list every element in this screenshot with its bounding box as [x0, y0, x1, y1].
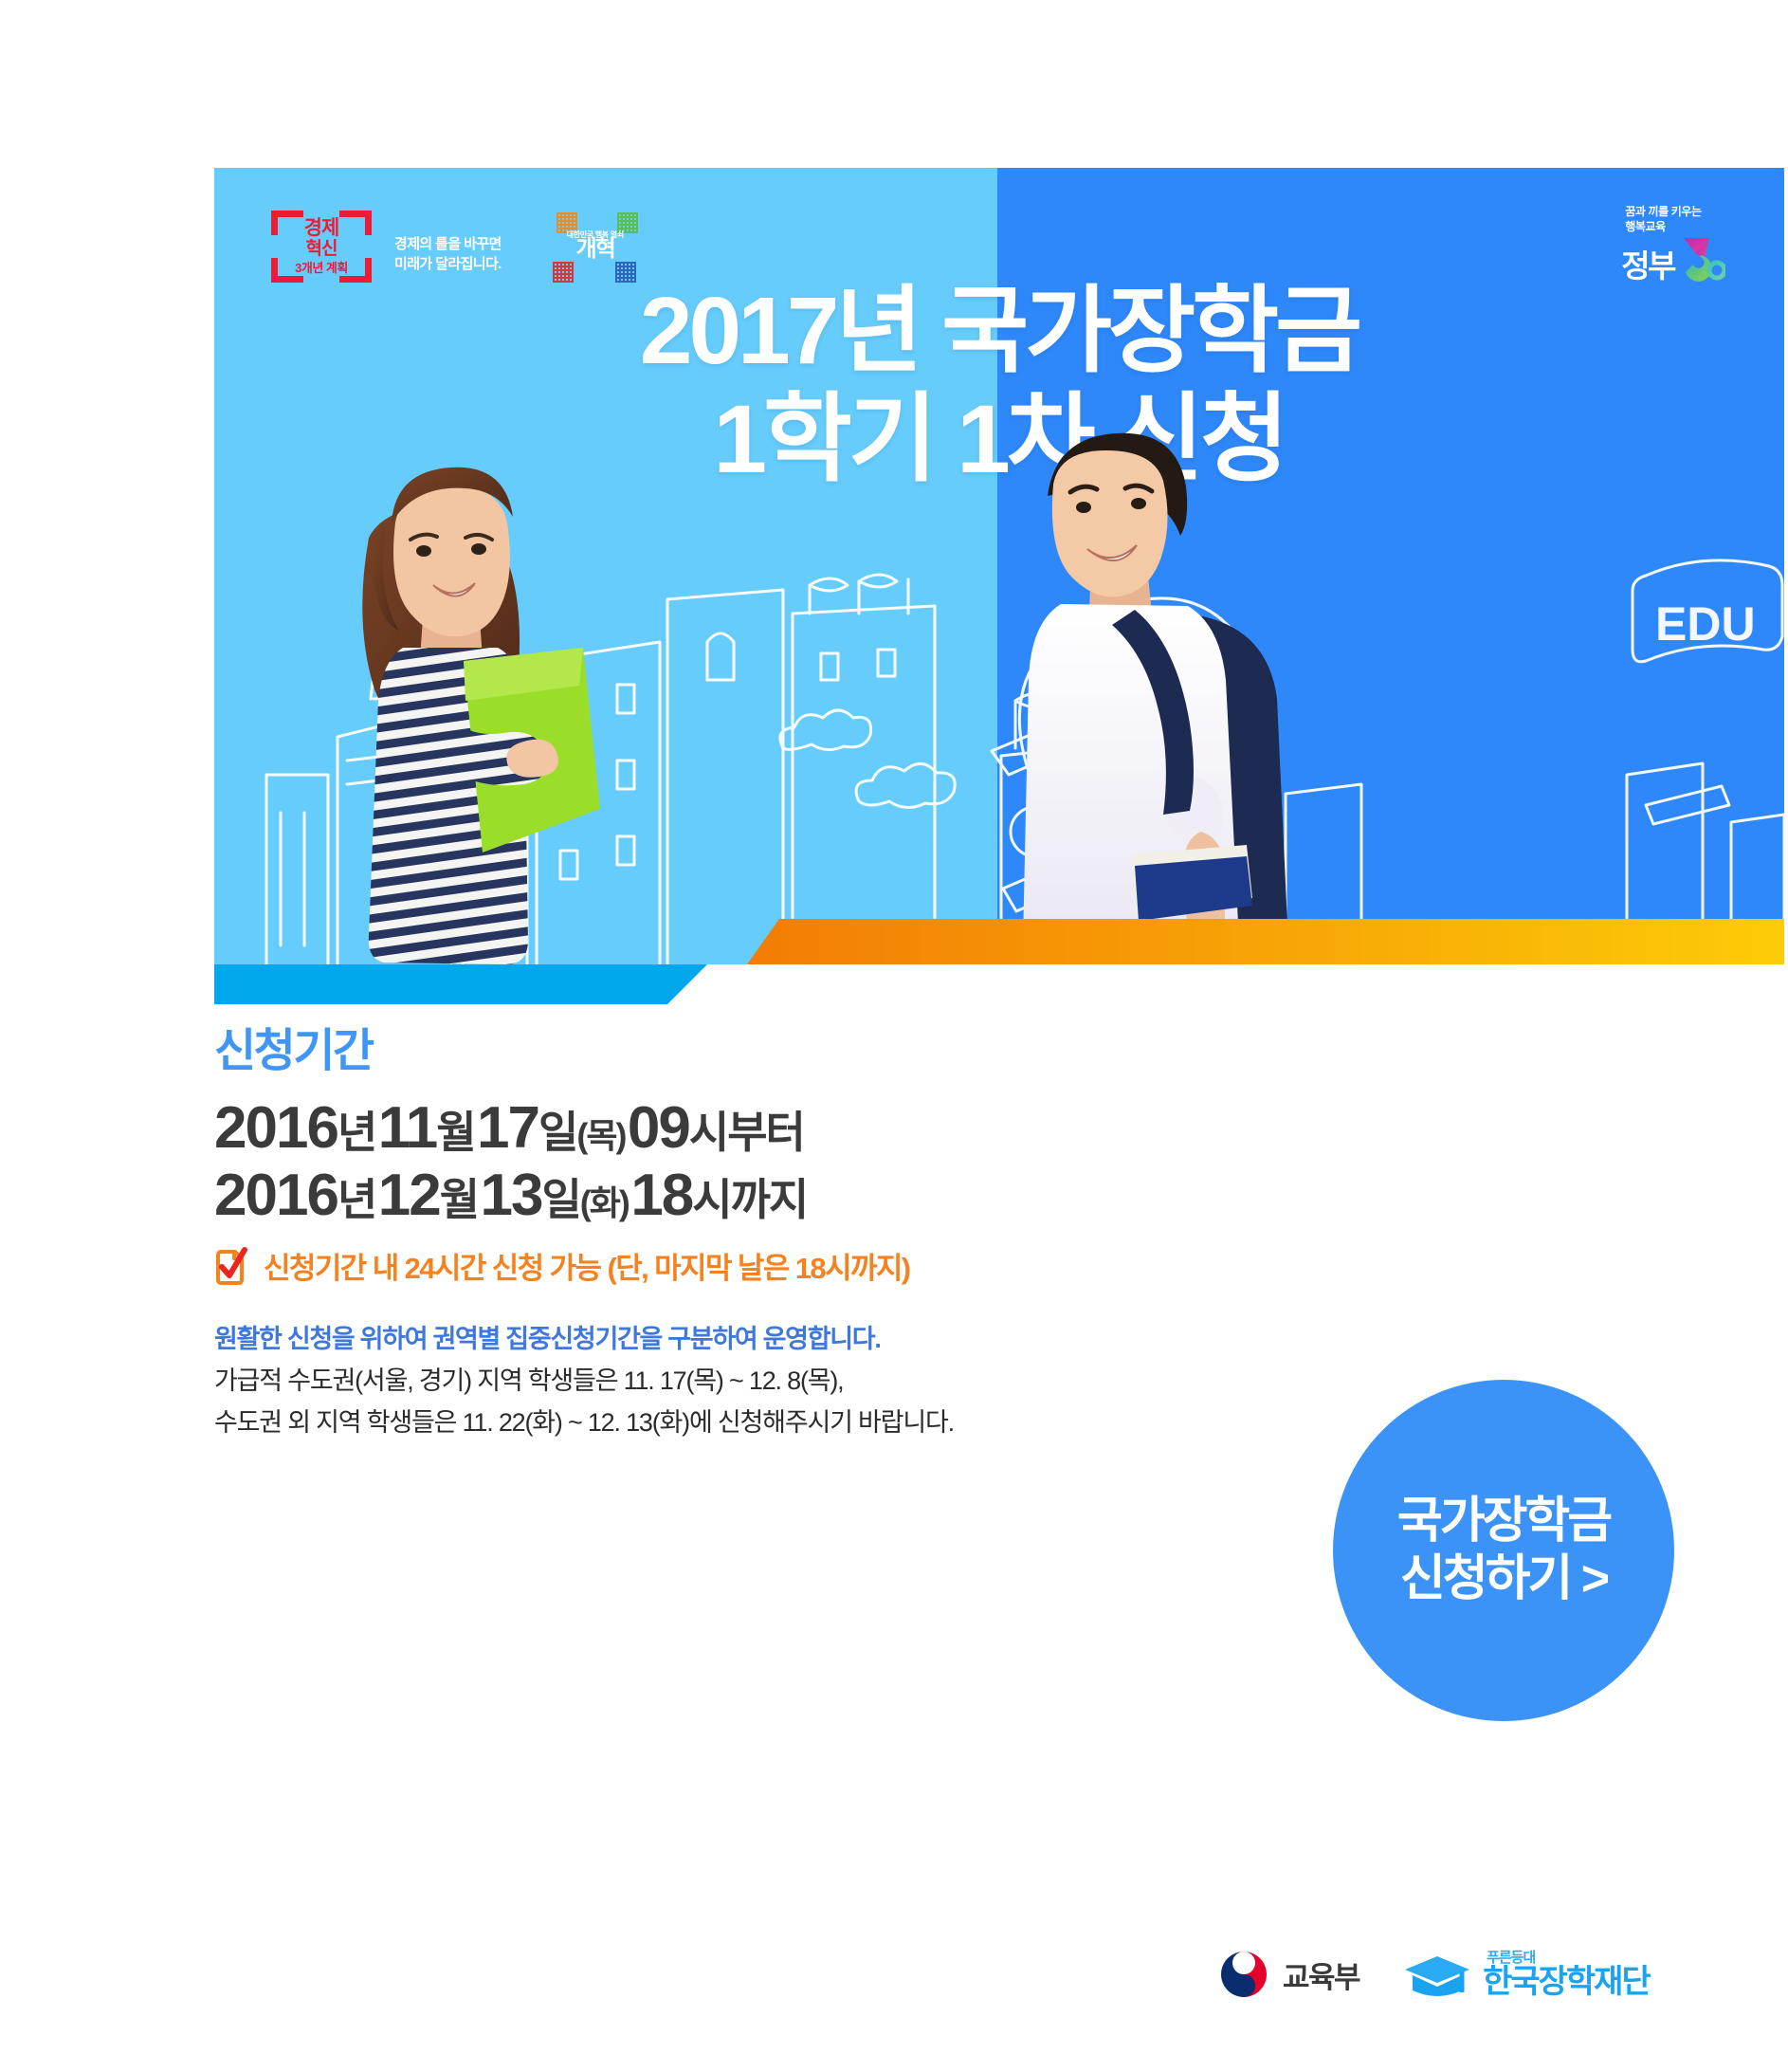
- economic-innovation-logo: 경제 혁신 3개년 계획: [271, 211, 372, 283]
- cta-label-line2: 신청하기 >: [1400, 1550, 1607, 1608]
- hero-banner: EDU 경제 혁신 3개년 계획 경제의 틀을 바꾸면 미래가 달라집니다.: [214, 168, 1784, 964]
- start-year-number: 2016: [214, 1095, 338, 1161]
- application-period-section: 신청기간 2016년 11월 17일(목) 09시부터 2016년 12월 13…: [214, 1029, 1276, 1444]
- kosaf-logo: 푸른등대 한국장학재단: [1403, 1951, 1650, 1998]
- economy-tagline-line1: 경제의 틀을 바꾸면: [394, 234, 502, 255]
- ministry-of-education-logo: 교육부: [1218, 1949, 1359, 2000]
- education-reform-logo: 대한민국 행복 열쇠 개혁: [553, 212, 638, 283]
- end-day-number: 13: [480, 1163, 541, 1228]
- edu-doodle-text: EDU: [1655, 597, 1756, 651]
- graduation-cap-icon: [1403, 1951, 1473, 1998]
- section-title: 신청기간: [214, 1029, 1276, 1074]
- economy-logo-line3: 3개년 계획: [271, 262, 372, 274]
- start-weekday: (목): [576, 1116, 625, 1155]
- end-month-unit: 월: [440, 1175, 478, 1224]
- government-30-logo: 꿈과 끼를 키우는 행복교육 정부: [1621, 204, 1725, 284]
- economy-tagline: 경제의 틀을 바꾸면 미래가 달라집니다.: [394, 234, 502, 284]
- gov30-caption-line2: 행복교육: [1625, 219, 1725, 234]
- kosaf-sub-label: 푸른등대: [1487, 1947, 1535, 1967]
- footer-logos: 교육부 푸른등대 한국장학재단: [1218, 1949, 1650, 2000]
- end-hour-unit: 시까지: [692, 1175, 807, 1224]
- female-student-photo: [304, 424, 617, 964]
- start-hour-unit: 시부터: [689, 1108, 804, 1157]
- date-start-line: 2016년 11월 17일(목) 09시부터: [214, 1095, 1276, 1163]
- ministry-label: 교육부: [1283, 1953, 1359, 1996]
- regional-guidance-paragraph: 원활한 신청을 위하여 권역별 집중신청기간을 구분하여 운영합니다. 가급적 …: [214, 1319, 1276, 1443]
- gov30-version-mark-icon: [1676, 234, 1725, 284]
- education-logo-title: 개혁: [553, 238, 638, 261]
- end-month-number: 12: [378, 1163, 440, 1228]
- end-hour-number: 18: [630, 1163, 692, 1228]
- male-student-photo: [949, 414, 1347, 964]
- start-day-unit: 일: [538, 1108, 576, 1157]
- taegeuk-icon: [1218, 1949, 1269, 2000]
- start-day-number: 17: [477, 1095, 538, 1161]
- end-weekday: (화): [580, 1183, 629, 1222]
- availability-note-text: 신청기간 내 24시간 신청 가능 (단, 마지막 날은 18시까지): [264, 1244, 910, 1287]
- poster-root: EDU 경제 혁신 3개년 계획 경제의 틀을 바꾸면 미래가 달라집니다.: [0, 0, 1788, 2072]
- start-year-unit: 년: [338, 1108, 375, 1157]
- economy-logo-line2: 혁신: [271, 240, 372, 258]
- hero-blue-ribbon: [214, 964, 707, 1004]
- hero-logo-group: 경제 혁신 3개년 계획 경제의 틀을 바꾸면 미래가 달라집니다. 대한민국 …: [271, 211, 638, 283]
- start-hour-number: 09: [628, 1095, 689, 1161]
- cta-label-line1: 국가장학금: [1397, 1493, 1610, 1550]
- end-year-unit: 년: [338, 1175, 375, 1224]
- guidance-line-3: 수도권 외 지역 학생들은 11. 22(화) ~ 12. 13(화)에 신청해…: [214, 1403, 1276, 1444]
- hero-orange-ribbon: [214, 919, 1784, 964]
- gov30-caption-line1: 꿈과 끼를 키우는: [1625, 204, 1725, 219]
- date-end-line: 2016년 12월 13일(화) 18시까지: [214, 1163, 1276, 1230]
- apply-scholarship-button[interactable]: 국가장학금 신청하기 >: [1333, 1380, 1674, 1721]
- kosaf-wordmark: 푸른등대 한국장학재단: [1483, 1962, 1650, 1998]
- date-range: 2016년 11월 17일(목) 09시부터 2016년 12월 13일(화) …: [214, 1095, 1276, 1229]
- availability-note: 신청기간 내 24시간 신청 가능 (단, 마지막 날은 18시까지): [214, 1244, 1276, 1287]
- kosaf-main-label: 한국장학재단: [1483, 1964, 1650, 2000]
- start-month-unit: 월: [436, 1108, 474, 1157]
- checklist-icon: [214, 1246, 248, 1286]
- end-day-unit: 일: [541, 1175, 579, 1224]
- economy-logo-line1: 경제: [271, 218, 372, 238]
- end-year-number: 2016: [214, 1163, 338, 1228]
- headline-line-1: 2017년 국가장학금: [214, 278, 1784, 385]
- start-month-number: 11: [378, 1095, 437, 1161]
- guidance-line-2: 가급적 수도권(서울, 경기) 지역 학생들은 11. 17(목) ~ 12. …: [214, 1361, 1276, 1403]
- economy-tagline-line2: 미래가 달라집니다.: [394, 254, 502, 275]
- guidance-line-1: 원활한 신청을 위하여 권역별 집중신청기간을 구분하여 운영합니다.: [214, 1319, 1276, 1361]
